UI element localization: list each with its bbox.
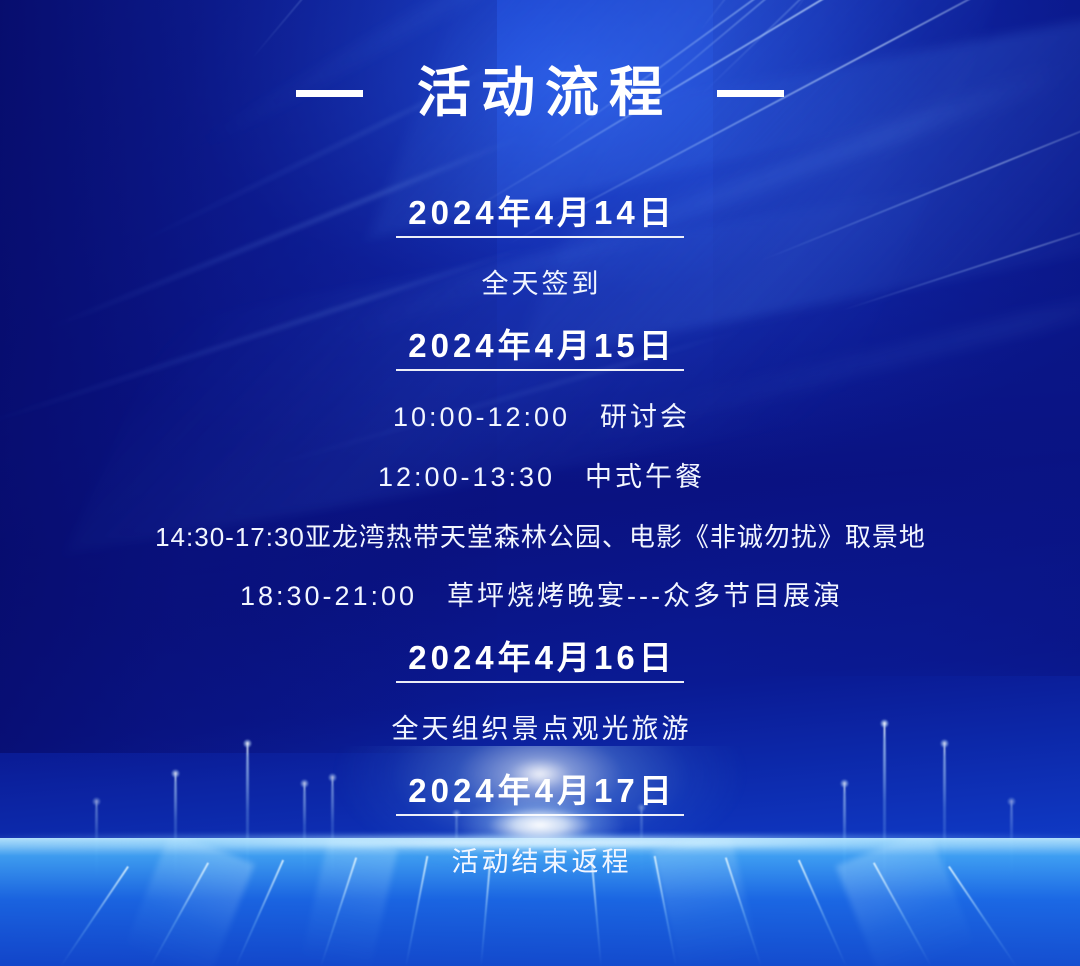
- schedule-day-group: 2024年4月14日: [0, 196, 1080, 238]
- schedule-date-heading: 2024年4月16日: [396, 641, 683, 683]
- schedule-date-heading: 2024年4月15日: [396, 329, 683, 371]
- schedule-entry: 14:30-17:30亚龙湾热带天堂森林公园、电影《非诚勿扰》取景地: [0, 524, 1080, 550]
- schedule-entry: 12:00-13:30 中式午餐: [0, 464, 1080, 491]
- schedule-day-group: 2024年4月15日: [0, 329, 1080, 371]
- event-schedule-poster: 活动流程 2024年4月14日 全天签到 2024年4月15日 10:00-12…: [0, 0, 1080, 966]
- schedule-list: 2024年4月14日 全天签到 2024年4月15日 10:00-12:00 研…: [0, 196, 1080, 876]
- title-dash-left-icon: [296, 90, 363, 97]
- page-title: 活动流程: [407, 62, 673, 124]
- schedule-entry: 10:00-12:00 研讨会: [0, 404, 1080, 431]
- title-dash-right-icon: [717, 90, 784, 97]
- schedule-entry: 18:30-21:00 草坪烧烤晚宴---众多节目展演: [0, 583, 1080, 610]
- schedule-entry: 活动结束返程: [0, 849, 1080, 876]
- schedule-day-group: 2024年4月17日: [0, 774, 1080, 816]
- schedule-date-heading: 2024年4月14日: [396, 196, 683, 238]
- page-title-row: 活动流程: [0, 62, 1080, 124]
- schedule-date-heading: 2024年4月17日: [396, 774, 683, 816]
- schedule-day-group: 2024年4月16日: [0, 641, 1080, 683]
- poster-content: 活动流程 2024年4月14日 全天签到 2024年4月15日 10:00-12…: [0, 0, 1080, 966]
- schedule-entry: 全天组织景点观光旅游: [0, 716, 1080, 743]
- schedule-entry: 全天签到: [0, 271, 1080, 298]
